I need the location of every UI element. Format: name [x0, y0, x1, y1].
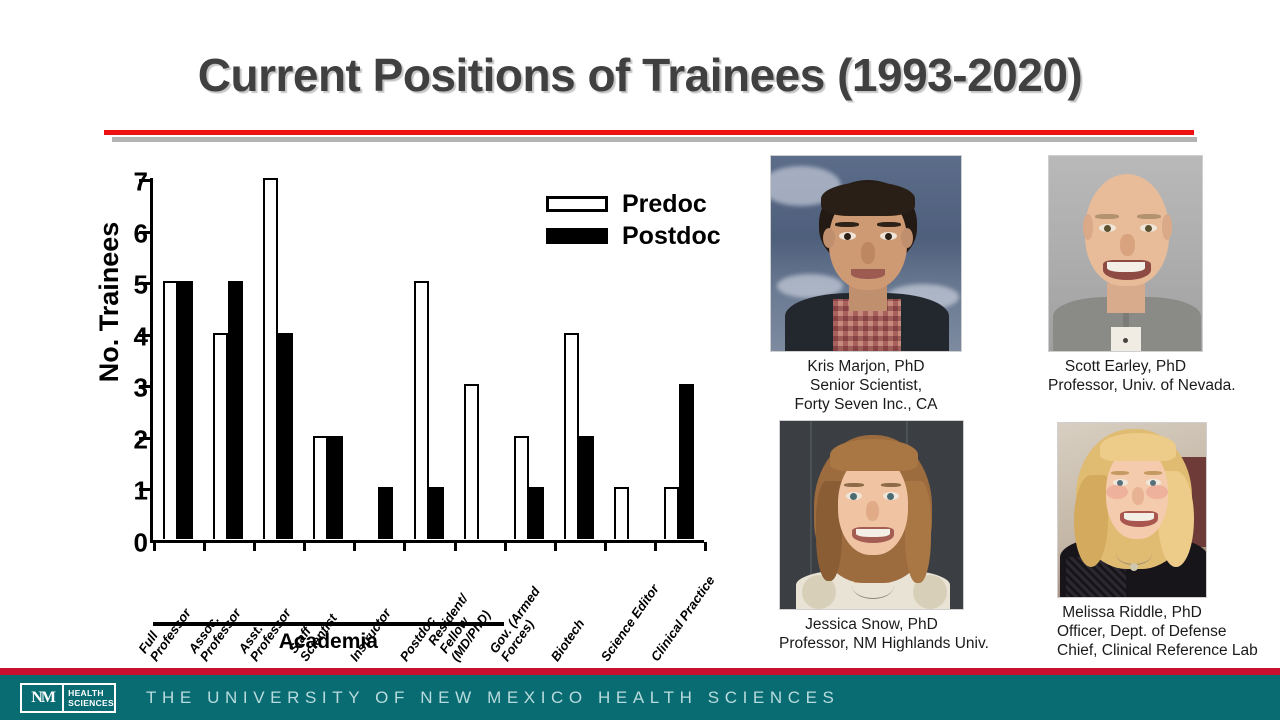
hair-front-shape	[1100, 433, 1176, 461]
nose-shape	[1120, 234, 1135, 256]
legend-item-predoc: Predoc	[546, 188, 721, 220]
y-tick-mark	[139, 179, 150, 182]
bar-predoc	[614, 487, 629, 539]
legend-item-postdoc: Postdoc	[546, 220, 721, 252]
x-tick-mark	[704, 542, 707, 551]
nose-shape	[1132, 487, 1144, 505]
bar-postdoc	[579, 436, 594, 539]
chart-x-tick-marks	[153, 542, 704, 552]
x-tick-mark	[303, 542, 306, 551]
bar-group	[303, 178, 353, 539]
photo-card-scott-earley: Scott Earley, PhD Professor, Univ. of Ne…	[1048, 155, 1203, 395]
pupil-shape	[844, 233, 851, 240]
pupil-shape	[1145, 225, 1152, 232]
y-tick-label: 1	[114, 476, 148, 507]
bar-predoc	[163, 281, 178, 539]
unm-logo: NM HEALTH SCIENCES	[20, 683, 116, 713]
bar-predoc	[564, 333, 579, 539]
photo-caption-kris-marjon: Kris Marjon, PhD Senior Scientist, Forty…	[770, 357, 962, 414]
necklace-shape	[1116, 543, 1152, 565]
ear-shape	[1083, 214, 1093, 240]
bar-group	[203, 178, 253, 539]
x-tick-mark	[454, 542, 457, 551]
legend-label-predoc: Predoc	[622, 190, 707, 219]
hair-right-shape	[905, 481, 931, 583]
unm-logo-wordmark: HEALTH SCIENCES	[68, 688, 114, 708]
hair-front-shape	[821, 182, 915, 216]
unm-monogram-icon: NM	[23, 685, 62, 711]
legend-swatch-postdoc	[546, 228, 608, 244]
bar-postdoc	[228, 281, 243, 539]
academia-group-label: Academia	[153, 630, 504, 654]
bar-postdoc	[429, 487, 444, 539]
caption-line: Professor, Univ. of Nevada.	[1048, 376, 1203, 395]
x-tick-mark	[504, 542, 507, 551]
y-tick-label: 7	[114, 167, 148, 198]
cheek-blush-shape	[1146, 485, 1168, 499]
title-divider-red	[104, 130, 1194, 135]
photo-caption-jessica-snow: Jessica Snow, PhD Professor, NM Highland…	[779, 615, 964, 653]
bar-predoc	[263, 178, 278, 539]
bar-predoc	[514, 436, 529, 539]
caption-line: Forty Seven Inc., CA	[770, 395, 962, 414]
portrait-photo-melissa-riddle	[1057, 422, 1207, 598]
teeth-shape	[856, 529, 890, 537]
x-tick-label: Biotech	[548, 617, 587, 664]
bar-postdoc	[378, 487, 393, 539]
caption-line: Senior Scientist,	[770, 376, 962, 395]
necklace-shape	[852, 573, 894, 599]
footer-bar: NM HEALTH SCIENCES THE UNIVERSITY OF NEW…	[0, 675, 1280, 720]
ear-shape	[823, 228, 835, 248]
x-tick-mark	[153, 542, 156, 551]
ear-shape	[1162, 214, 1172, 240]
caption-line: Melissa Riddle, PhD	[1057, 603, 1207, 622]
x-tick-mark	[203, 542, 206, 551]
photo-card-jessica-snow: Jessica Snow, PhD Professor, NM Highland…	[779, 420, 964, 653]
ear-shape	[901, 228, 913, 248]
y-tick-mark	[139, 385, 150, 388]
y-tick-label: 3	[114, 373, 148, 404]
footer-accent-line	[0, 668, 1280, 675]
eyebrow-shape	[1144, 471, 1162, 475]
nose-shape	[861, 242, 875, 264]
page-title: Current Positions of Trainees (1993-2020…	[0, 48, 1280, 102]
cheek-blush-shape	[1106, 485, 1128, 499]
photo-card-kris-marjon: Kris Marjon, PhD Senior Scientist, Forty…	[770, 155, 962, 414]
face-group	[1058, 423, 1206, 597]
neck-shape	[1107, 283, 1145, 313]
caption-line: Kris Marjon, PhD	[770, 357, 962, 376]
caption-line: Scott Earley, PhD	[1048, 357, 1203, 376]
eyebrow-shape	[835, 222, 859, 227]
bar-postdoc	[679, 384, 694, 539]
photo-card-melissa-riddle: Melissa Riddle, PhD Officer, Dept. of De…	[1057, 422, 1207, 660]
nose-shape	[866, 501, 879, 521]
eyebrow-shape	[1111, 471, 1129, 475]
x-tick-mark	[353, 542, 356, 551]
x-tick-mark	[253, 542, 256, 551]
x-tick-mark	[604, 542, 607, 551]
eyebrow-shape	[881, 483, 901, 487]
eyebrow-shape	[877, 222, 901, 227]
mouth-shape	[851, 269, 885, 279]
academia-group-bracket	[153, 622, 504, 626]
bar-group	[253, 178, 303, 539]
caption-line: Chief, Clinical Reference Lab	[1057, 641, 1207, 660]
face-group	[771, 156, 961, 351]
chart-legend: Predoc Postdoc	[546, 188, 721, 252]
photo-caption-melissa-riddle: Melissa Riddle, PhD Officer, Dept. of De…	[1057, 603, 1207, 660]
bar-predoc	[313, 436, 328, 539]
bar-predoc	[464, 384, 479, 539]
bar-postdoc	[529, 487, 544, 539]
y-tick-mark	[139, 488, 150, 491]
bar-predoc	[414, 281, 429, 539]
y-tick-mark	[139, 334, 150, 337]
y-tick-label: 5	[114, 270, 148, 301]
bar-group	[353, 178, 403, 539]
hair-front-shape	[830, 439, 918, 471]
bar-predoc	[664, 487, 679, 539]
footer-institution-text: THE UNIVERSITY OF NEW MEXICO HEALTH SCIE…	[146, 688, 840, 708]
x-tick-mark	[554, 542, 557, 551]
bar-group	[153, 178, 203, 539]
teeth-shape	[1107, 262, 1145, 272]
bar-group	[454, 178, 504, 539]
portrait-photo-scott-earley	[1048, 155, 1203, 352]
y-tick-mark	[139, 282, 150, 285]
trainee-positions-bar-chart: No. Trainees 76543210 Predoc Postdoc Ful…	[100, 170, 720, 670]
x-tick-label-line: Biotech	[548, 617, 587, 664]
photo-caption-scott-earley: Scott Earley, PhD Professor, Univ. of Ne…	[1048, 357, 1203, 395]
bar-group	[403, 178, 453, 539]
chart-plot-area: Predoc Postdoc	[150, 178, 704, 542]
portrait-photo-jessica-snow	[779, 420, 964, 610]
logo-line-1: HEALTH	[68, 688, 114, 698]
logo-line-2: SCIENCES	[68, 698, 114, 708]
pupil-shape	[887, 493, 894, 500]
x-tick-mark	[403, 542, 406, 551]
legend-swatch-predoc	[546, 196, 608, 212]
caption-line: Jessica Snow, PhD	[779, 615, 964, 634]
face-group	[780, 421, 963, 609]
pupil-shape	[1104, 225, 1111, 232]
bar-postdoc	[178, 281, 193, 539]
y-tick-label: 6	[114, 218, 148, 249]
logo-divider	[62, 685, 64, 711]
y-tick-mark	[139, 231, 150, 234]
hair-left-curl-shape	[1074, 475, 1108, 567]
y-tick-label: 2	[114, 424, 148, 455]
caption-line: Officer, Dept. of Defense	[1057, 622, 1207, 641]
pupil-shape	[885, 233, 892, 240]
shirt-button-shape	[1123, 338, 1128, 343]
y-tick-mark	[139, 437, 150, 440]
caption-line: Professor, NM Highlands Univ.	[779, 634, 964, 653]
eyebrow-shape	[1095, 214, 1119, 219]
bar-postdoc	[278, 333, 293, 539]
pupil-shape	[850, 493, 857, 500]
face-group	[1049, 156, 1202, 351]
title-divider-gray	[112, 137, 1197, 142]
x-tick-mark	[654, 542, 657, 551]
y-tick-label: 0	[114, 528, 148, 559]
legend-label-postdoc: Postdoc	[622, 222, 721, 251]
eyebrow-shape	[1137, 214, 1161, 219]
y-tick-label: 4	[114, 321, 148, 352]
pendant-shape	[1130, 563, 1138, 571]
eyebrow-shape	[844, 483, 864, 487]
bar-predoc	[213, 333, 228, 539]
portrait-photo-kris-marjon	[770, 155, 962, 352]
bar-postdoc	[328, 436, 343, 539]
teeth-shape	[1124, 513, 1154, 521]
